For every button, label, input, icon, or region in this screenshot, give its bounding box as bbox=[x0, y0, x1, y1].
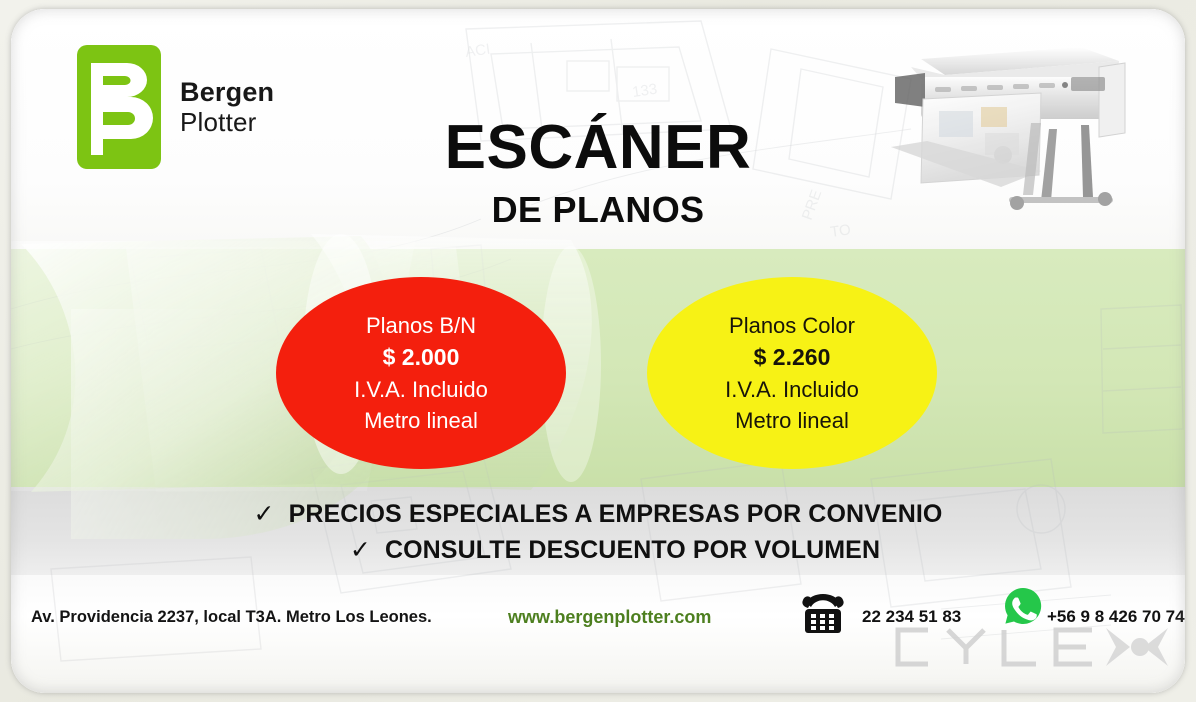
list-item: ✓PRECIOS ESPECIALES A EMPRESAS POR CONVE… bbox=[11, 497, 1185, 533]
list-item: ✓CONSULTE DESCUENTO POR VOLUMEN bbox=[11, 533, 1185, 569]
offer-price: $ 2.000 bbox=[383, 341, 460, 374]
offer-tax: I.V.A. Incluido bbox=[725, 374, 859, 405]
brand-name: Bergen bbox=[180, 77, 274, 108]
price-ellipse-planos-color: Planos Color $ 2.260 I.V.A. Incluido Met… bbox=[647, 277, 937, 469]
check-icon: ✓ bbox=[350, 533, 371, 569]
bullet-text: PRECIOS ESPECIALES A EMPRESAS POR CONVEN… bbox=[289, 500, 943, 528]
promo-bullet-list: ✓PRECIOS ESPECIALES A EMPRESAS POR CONVE… bbox=[11, 497, 1185, 568]
offer-unit: Metro lineal bbox=[735, 405, 849, 436]
website-link[interactable]: www.bergenplotter.com bbox=[508, 607, 711, 628]
address-text: Av. Providencia 2237, local T3A. Metro L… bbox=[31, 608, 432, 627]
bullet-text: CONSULTE DESCUENTO POR VOLUMEN bbox=[385, 536, 880, 564]
cylex-logo-icon bbox=[884, 616, 1169, 678]
cylex-watermark bbox=[884, 616, 1169, 683]
offer-tax: I.V.A. Incluido bbox=[354, 374, 488, 405]
price-ellipse-planos-bn: Planos B/N $ 2.000 I.V.A. Incluido Metro… bbox=[276, 277, 566, 469]
large-format-plotter-printer-icon bbox=[881, 25, 1173, 225]
poster-frame: 133 ACI PRE TO bbox=[0, 0, 1196, 702]
telephone-icon bbox=[795, 583, 851, 644]
offer-unit: Metro lineal bbox=[364, 405, 478, 436]
check-icon: ✓ bbox=[254, 497, 275, 533]
offer-label: Planos B/N bbox=[366, 310, 476, 341]
offer-price: $ 2.260 bbox=[754, 341, 831, 374]
poster-card: 133 ACI PRE TO bbox=[11, 9, 1185, 693]
offer-label: Planos Color bbox=[729, 310, 855, 341]
